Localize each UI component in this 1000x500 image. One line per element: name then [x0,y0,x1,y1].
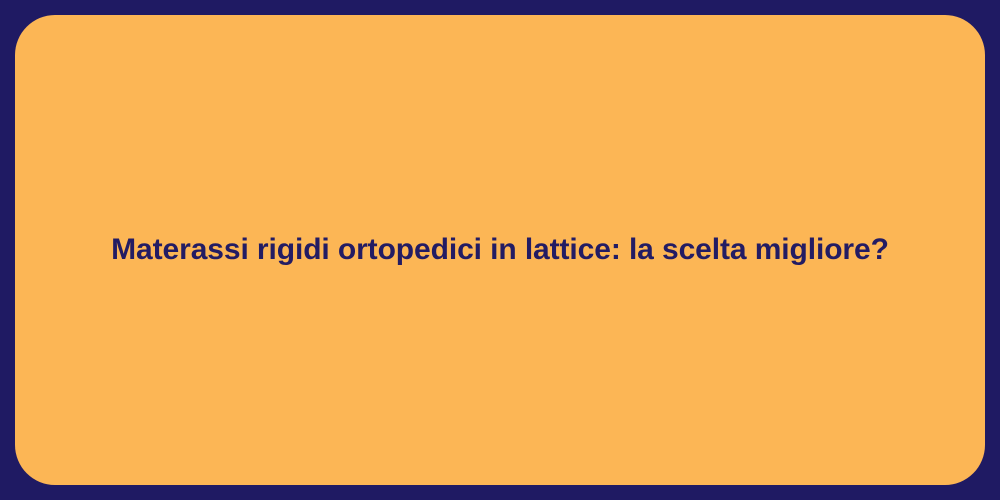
page-title: Materassi rigidi ortopedici in lattice: … [15,231,985,269]
card-frame: Materassi rigidi ortopedici in lattice: … [0,0,1000,500]
card-panel: Materassi rigidi ortopedici in lattice: … [15,15,985,485]
